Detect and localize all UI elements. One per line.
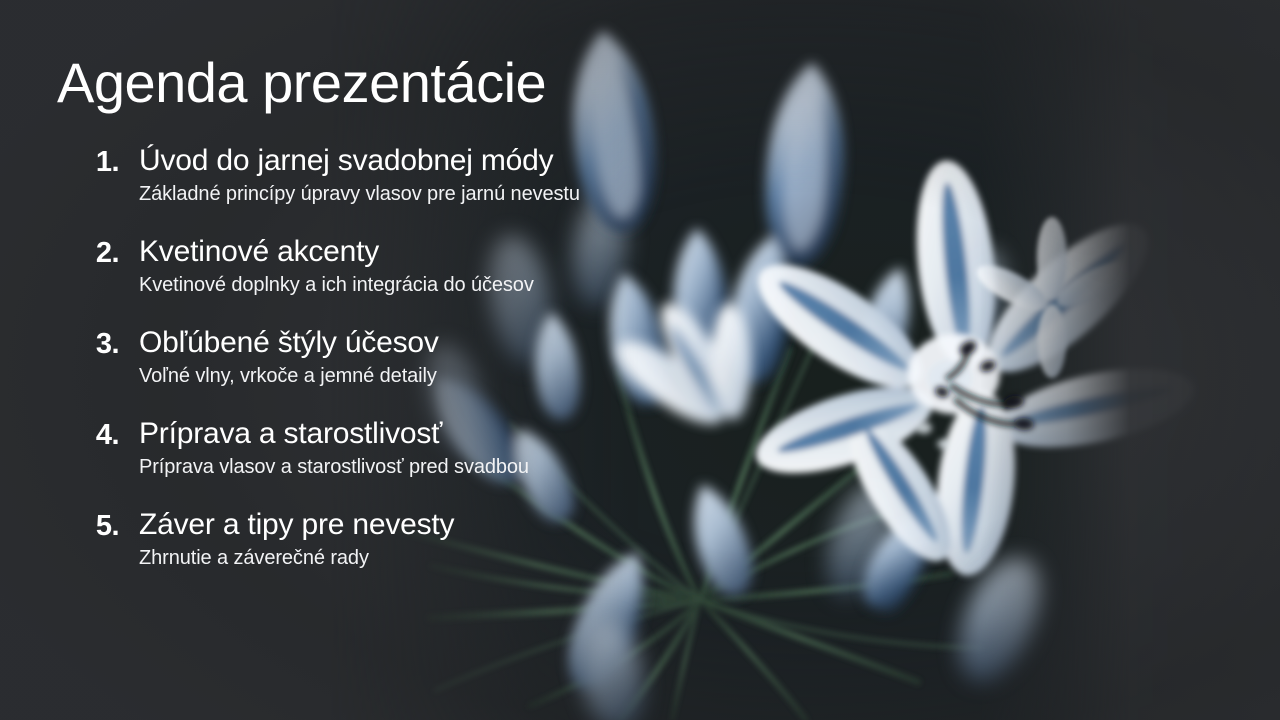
- agenda-item-number: 5.: [57, 507, 119, 541]
- agenda-item-subtitle: Základné princípy úpravy vlasov pre jarn…: [139, 182, 757, 206]
- agenda-item-title: Úvod do jarnej svadobnej módy: [139, 144, 553, 177]
- agenda-item-title: Obľúbené štýly účesov: [139, 326, 439, 359]
- agenda-item-3[interactable]: 3. Obľúbené štýly účesov Voľné vlny, vrk…: [57, 325, 757, 416]
- slide-content: Agenda prezentácie 1. Úvod do jarnej sva…: [0, 0, 1280, 720]
- agenda-item-title: Príprava a starostlivosť: [139, 417, 442, 450]
- agenda-item-title: Záver a tipy pre nevesty: [139, 508, 454, 541]
- agenda-item-body: Kvetinové akcenty Kvetinové doplnky a ic…: [119, 234, 757, 297]
- agenda-item-4[interactable]: 4. Príprava a starostlivosť Príprava vla…: [57, 416, 757, 507]
- agenda-item-2[interactable]: 2. Kvetinové akcenty Kvetinové doplnky a…: [57, 234, 757, 325]
- agenda-item-number: 3.: [57, 325, 119, 359]
- page-title: Agenda prezentácie: [57, 54, 546, 113]
- agenda-list: 1. Úvod do jarnej svadobnej módy Základn…: [57, 143, 757, 598]
- agenda-item-number: 4.: [57, 416, 119, 450]
- agenda-item-body: Záver a tipy pre nevesty Zhrnutie a záve…: [119, 507, 757, 570]
- agenda-item-subtitle: Kvetinové doplnky a ich integrácia do úč…: [139, 273, 757, 297]
- agenda-item-number: 2.: [57, 234, 119, 268]
- presentation-slide: Agenda prezentácie 1. Úvod do jarnej sva…: [0, 0, 1280, 720]
- agenda-item-title: Kvetinové akcenty: [139, 235, 379, 268]
- agenda-item-1[interactable]: 1. Úvod do jarnej svadobnej módy Základn…: [57, 143, 757, 234]
- agenda-item-body: Úvod do jarnej svadobnej módy Základné p…: [119, 143, 757, 206]
- agenda-item-subtitle: Príprava vlasov a starostlivosť pred sva…: [139, 455, 757, 479]
- agenda-item-subtitle: Voľné vlny, vrkoče a jemné detaily: [139, 364, 757, 388]
- agenda-item-5[interactable]: 5. Záver a tipy pre nevesty Zhrnutie a z…: [57, 507, 757, 598]
- agenda-item-subtitle: Zhrnutie a záverečné rady: [139, 546, 757, 570]
- agenda-item-number: 1.: [57, 143, 119, 177]
- agenda-item-body: Príprava a starostlivosť Príprava vlasov…: [119, 416, 757, 479]
- agenda-item-body: Obľúbené štýly účesov Voľné vlny, vrkoče…: [119, 325, 757, 388]
